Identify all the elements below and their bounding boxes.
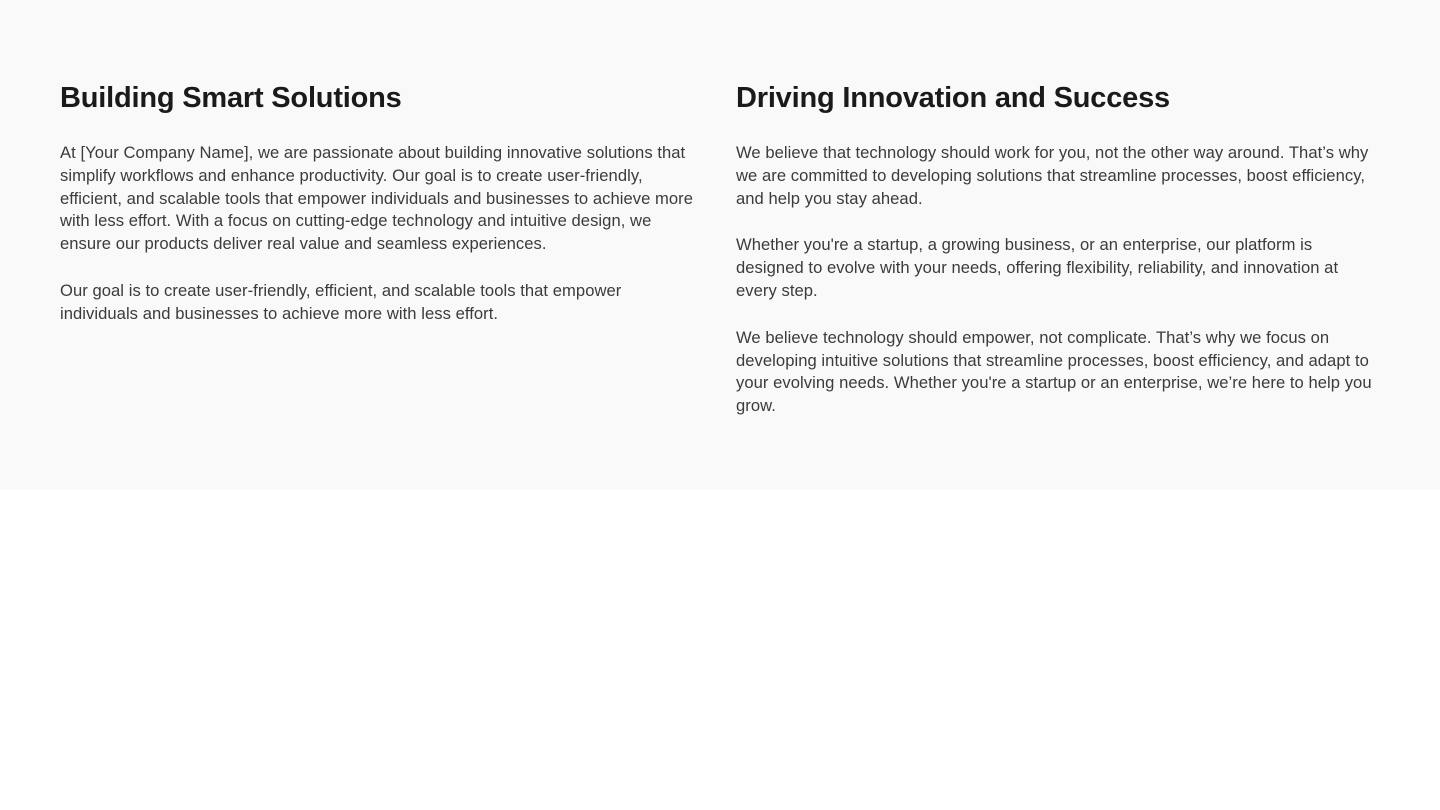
column-right-paragraph-3: We believe technology should empower, no… (736, 327, 1374, 418)
column-container: Building Smart Solutions At [Your Compan… (60, 80, 1380, 418)
column-left: Building Smart Solutions At [Your Compan… (60, 80, 698, 326)
column-right-paragraph-2: Whether you're a startup, a growing busi… (736, 234, 1374, 302)
page-root: Building Smart Solutions At [Your Compan… (0, 0, 1440, 810)
below-section-whitespace (0, 490, 1440, 810)
column-left-paragraph-2: Our goal is to create user-friendly, eff… (60, 280, 698, 326)
column-left-paragraph-1: At [Your Company Name], we are passionat… (60, 142, 698, 256)
column-right: Driving Innovation and Success We believ… (736, 80, 1374, 418)
column-left-heading: Building Smart Solutions (60, 80, 698, 116)
two-column-text-section: Building Smart Solutions At [Your Compan… (0, 0, 1440, 490)
column-right-heading: Driving Innovation and Success (736, 80, 1374, 116)
column-right-paragraph-1: We believe that technology should work f… (736, 142, 1374, 210)
